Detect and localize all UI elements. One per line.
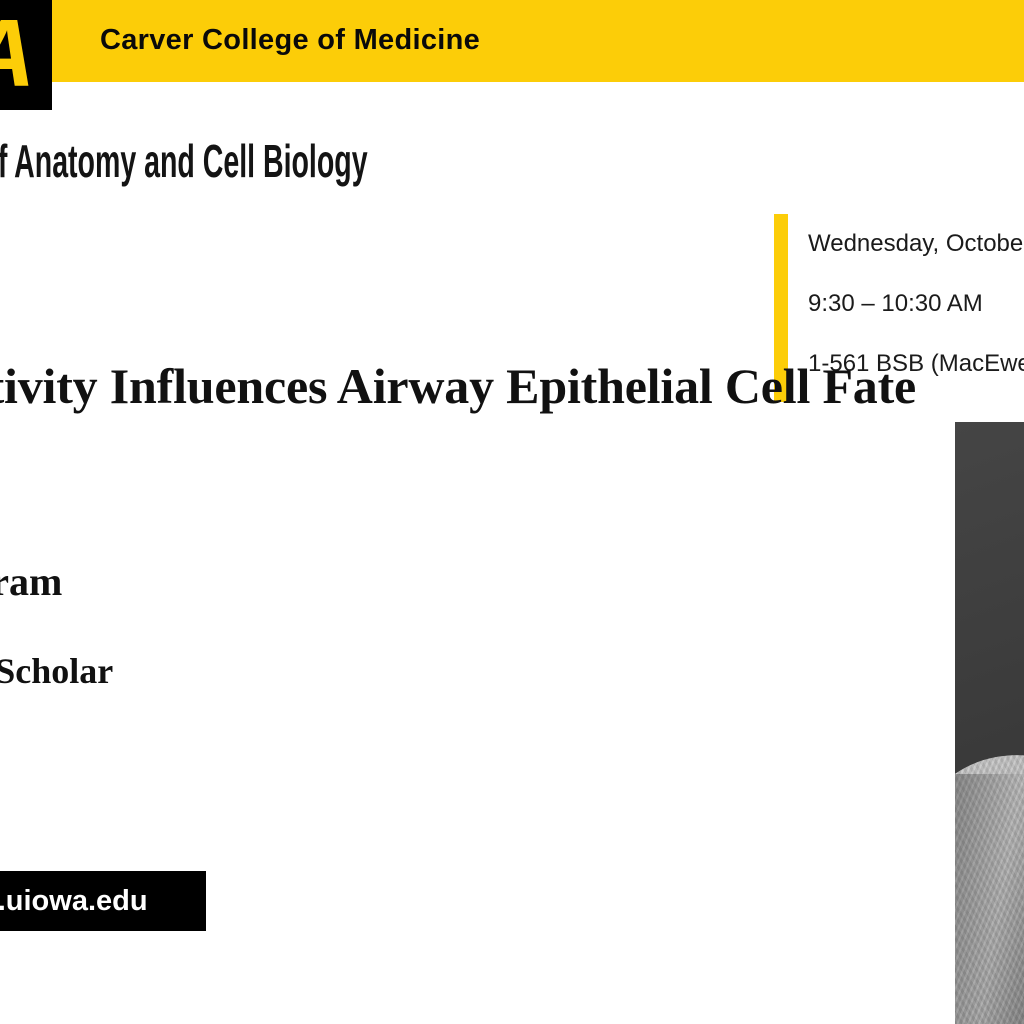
talk-title: Mechanosensitivity Influences Airway Epi… xyxy=(0,358,1024,472)
department-name: Department of Anatomy and Cell Biology xyxy=(0,133,368,189)
headshot-sweater-shoulder xyxy=(955,743,1024,1024)
event-date: Wednesday, October xyxy=(808,214,1024,274)
speaker-role: Postdoctoral Research Scholar xyxy=(0,649,113,693)
website-url-text: medicine.uiowa.edu xyxy=(0,884,148,918)
university-logo: A xyxy=(0,0,52,110)
website-url-bar[interactable]: medicine.uiowa.edu xyxy=(0,871,206,931)
speaker-name: Samantha Ingram xyxy=(0,558,62,606)
speaker-headshot-photo xyxy=(955,422,1024,1024)
event-time: 9:30 – 10:30 AM xyxy=(808,274,1024,334)
iowa-hawkeye-logo-icon: A xyxy=(0,6,31,102)
header-title: Carver College of Medicine xyxy=(100,24,480,57)
